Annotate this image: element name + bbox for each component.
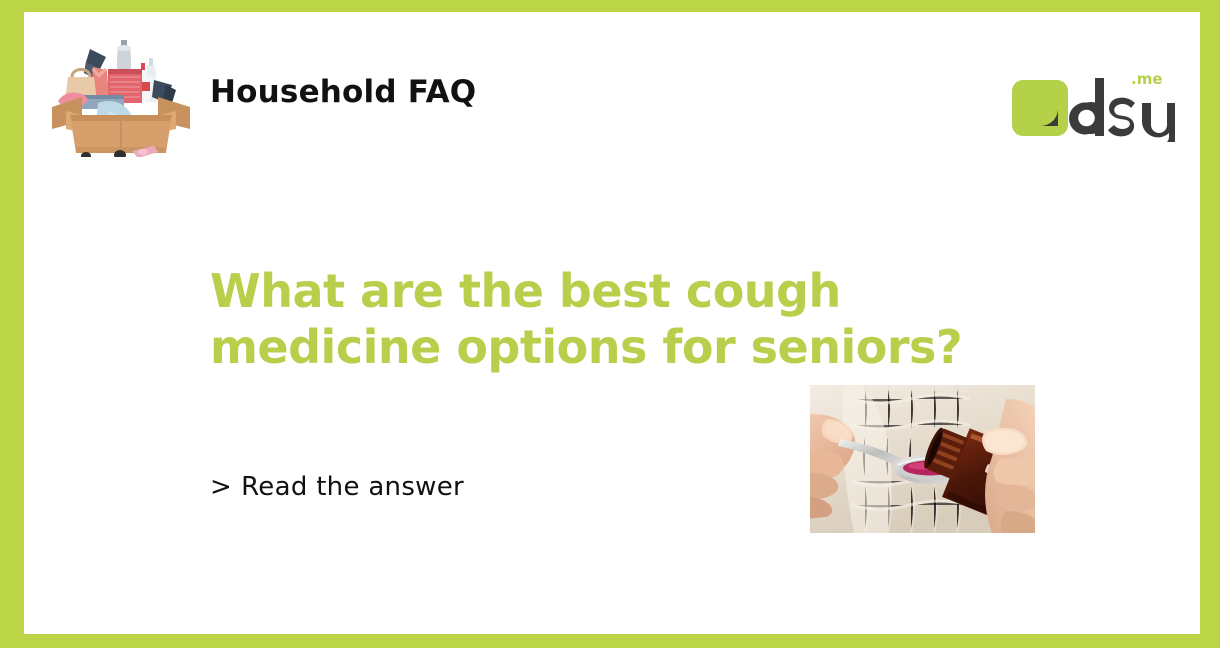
read-the-answer-label: Read the answer (241, 472, 464, 502)
card-header: Household FAQ (24, 12, 1200, 162)
page-title: Household FAQ (210, 74, 476, 110)
chevron-right-icon: > (210, 472, 232, 502)
cough-syrup-spoon-photo (810, 385, 1035, 533)
promo-card-frame: Household FAQ (0, 0, 1220, 648)
logo-suffix: .me (1131, 70, 1163, 88)
read-the-answer-link[interactable]: >Read the answer (210, 472, 464, 502)
promo-card-body: Household FAQ (24, 12, 1200, 634)
household-box-illustration (46, 25, 196, 157)
adsy-logo[interactable]: .me (1011, 60, 1175, 142)
headline: What are the best cough medicine options… (210, 263, 1070, 375)
